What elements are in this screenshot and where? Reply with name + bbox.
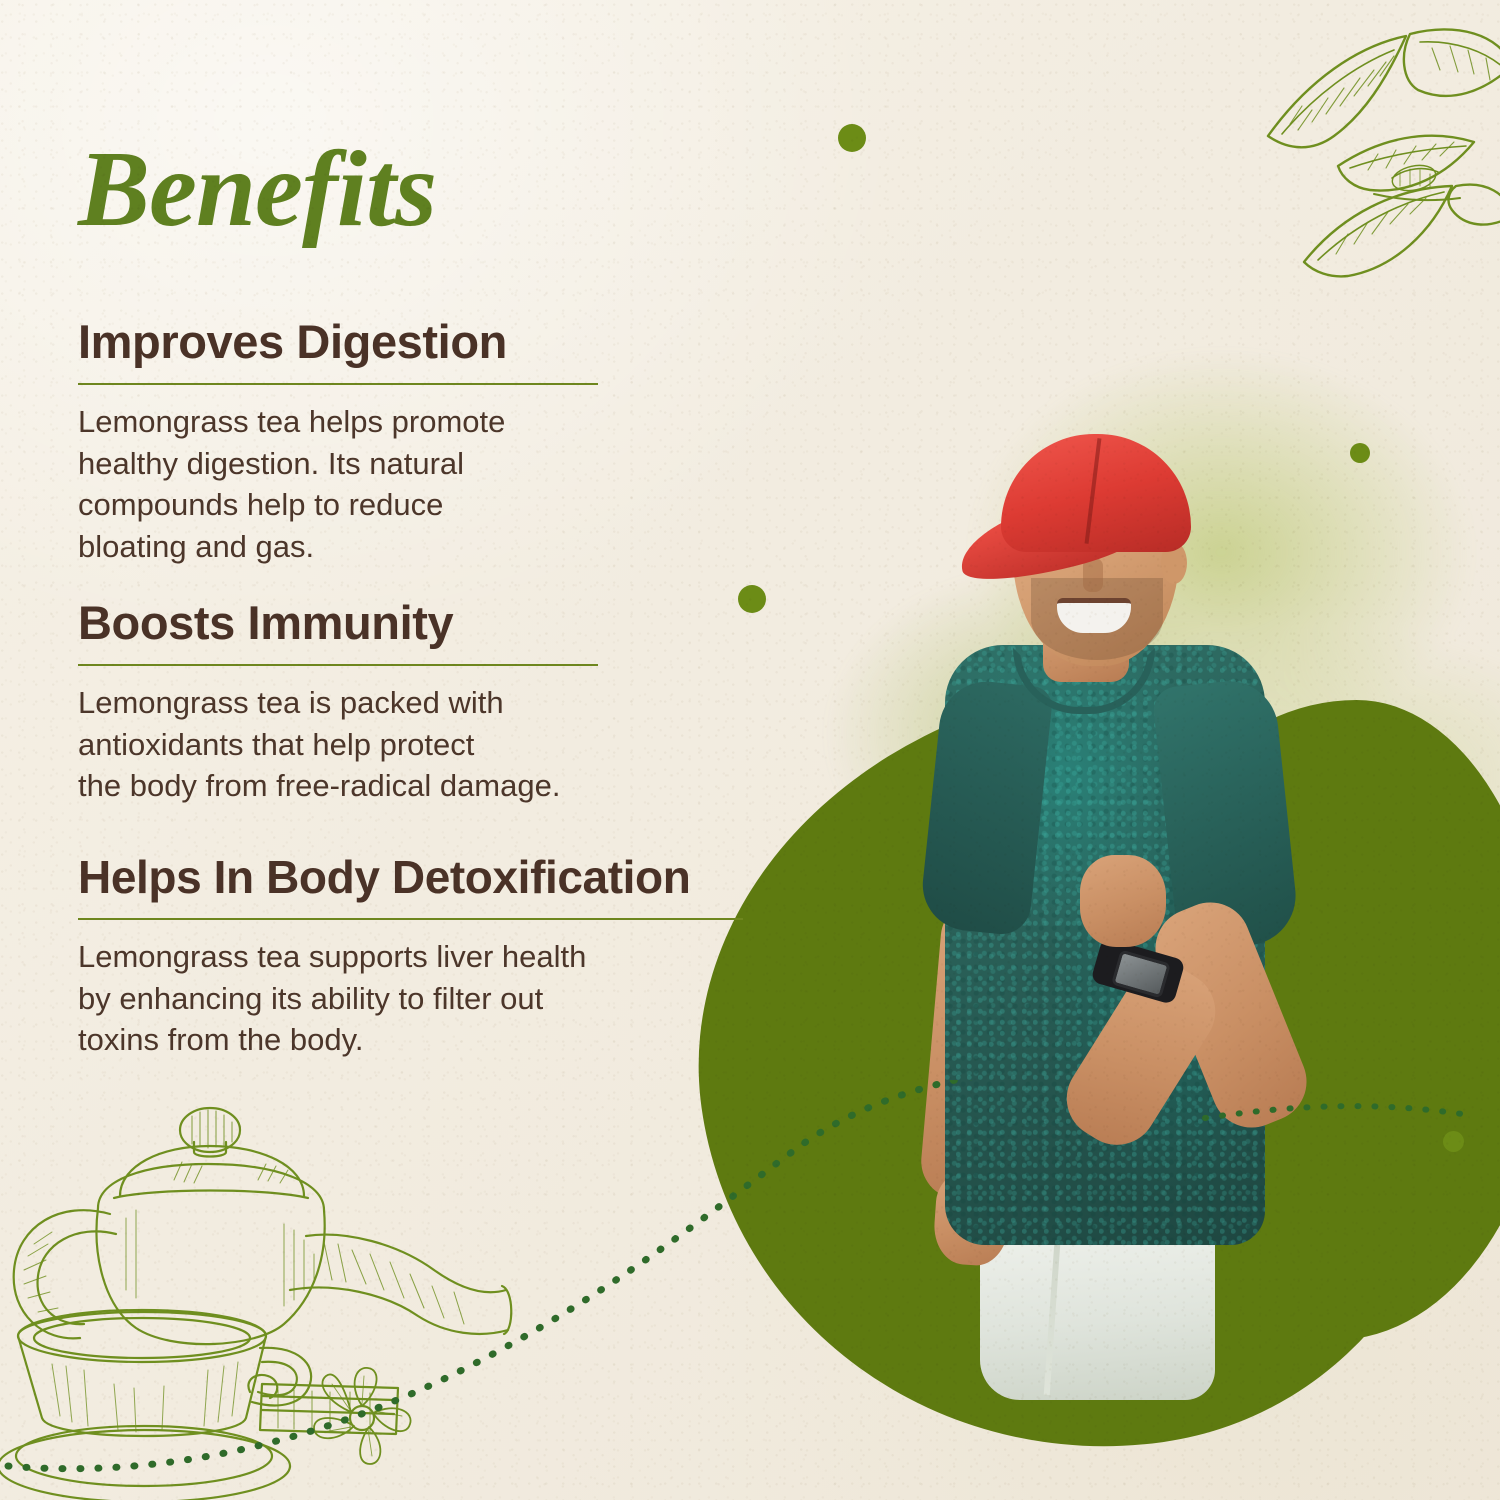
benefit-body: Lemongrass tea helps promote healthy dig… [78,401,768,567]
right-fist [1080,855,1166,947]
benefit-body: Lemongrass tea supports liver health by … [78,936,768,1061]
benefit-item-body-detoxification: Helps In Body Detoxification Lemongrass … [78,850,768,1061]
page-title: Benefits [78,136,436,244]
dotted-curve-icon [0,1080,1500,1500]
nose [1083,558,1103,592]
benefit-body: Lemongrass tea is packed with antioxidan… [78,682,768,807]
benefit-heading: Boosts Immunity [78,595,768,650]
decorative-dot [1443,1131,1464,1152]
benefit-divider [78,383,598,385]
benefit-heading: Helps In Body Detoxification [78,850,768,904]
benefit-item-improves-digestion: Improves Digestion Lemongrass tea helps … [78,314,768,567]
benefits-poster: Benefits Improves Digestion Lemongrass t… [0,0,1500,1500]
benefit-item-boosts-immunity: Boosts Immunity Lemongrass tea is packed… [78,595,768,807]
benefit-divider [78,664,598,666]
smiling-mouth [1057,598,1131,633]
benefit-divider [78,918,743,920]
decorative-dot [838,124,866,152]
decorative-dot [1350,443,1370,463]
benefit-heading: Improves Digestion [78,314,768,369]
mint-leaf-icon [1260,18,1500,308]
